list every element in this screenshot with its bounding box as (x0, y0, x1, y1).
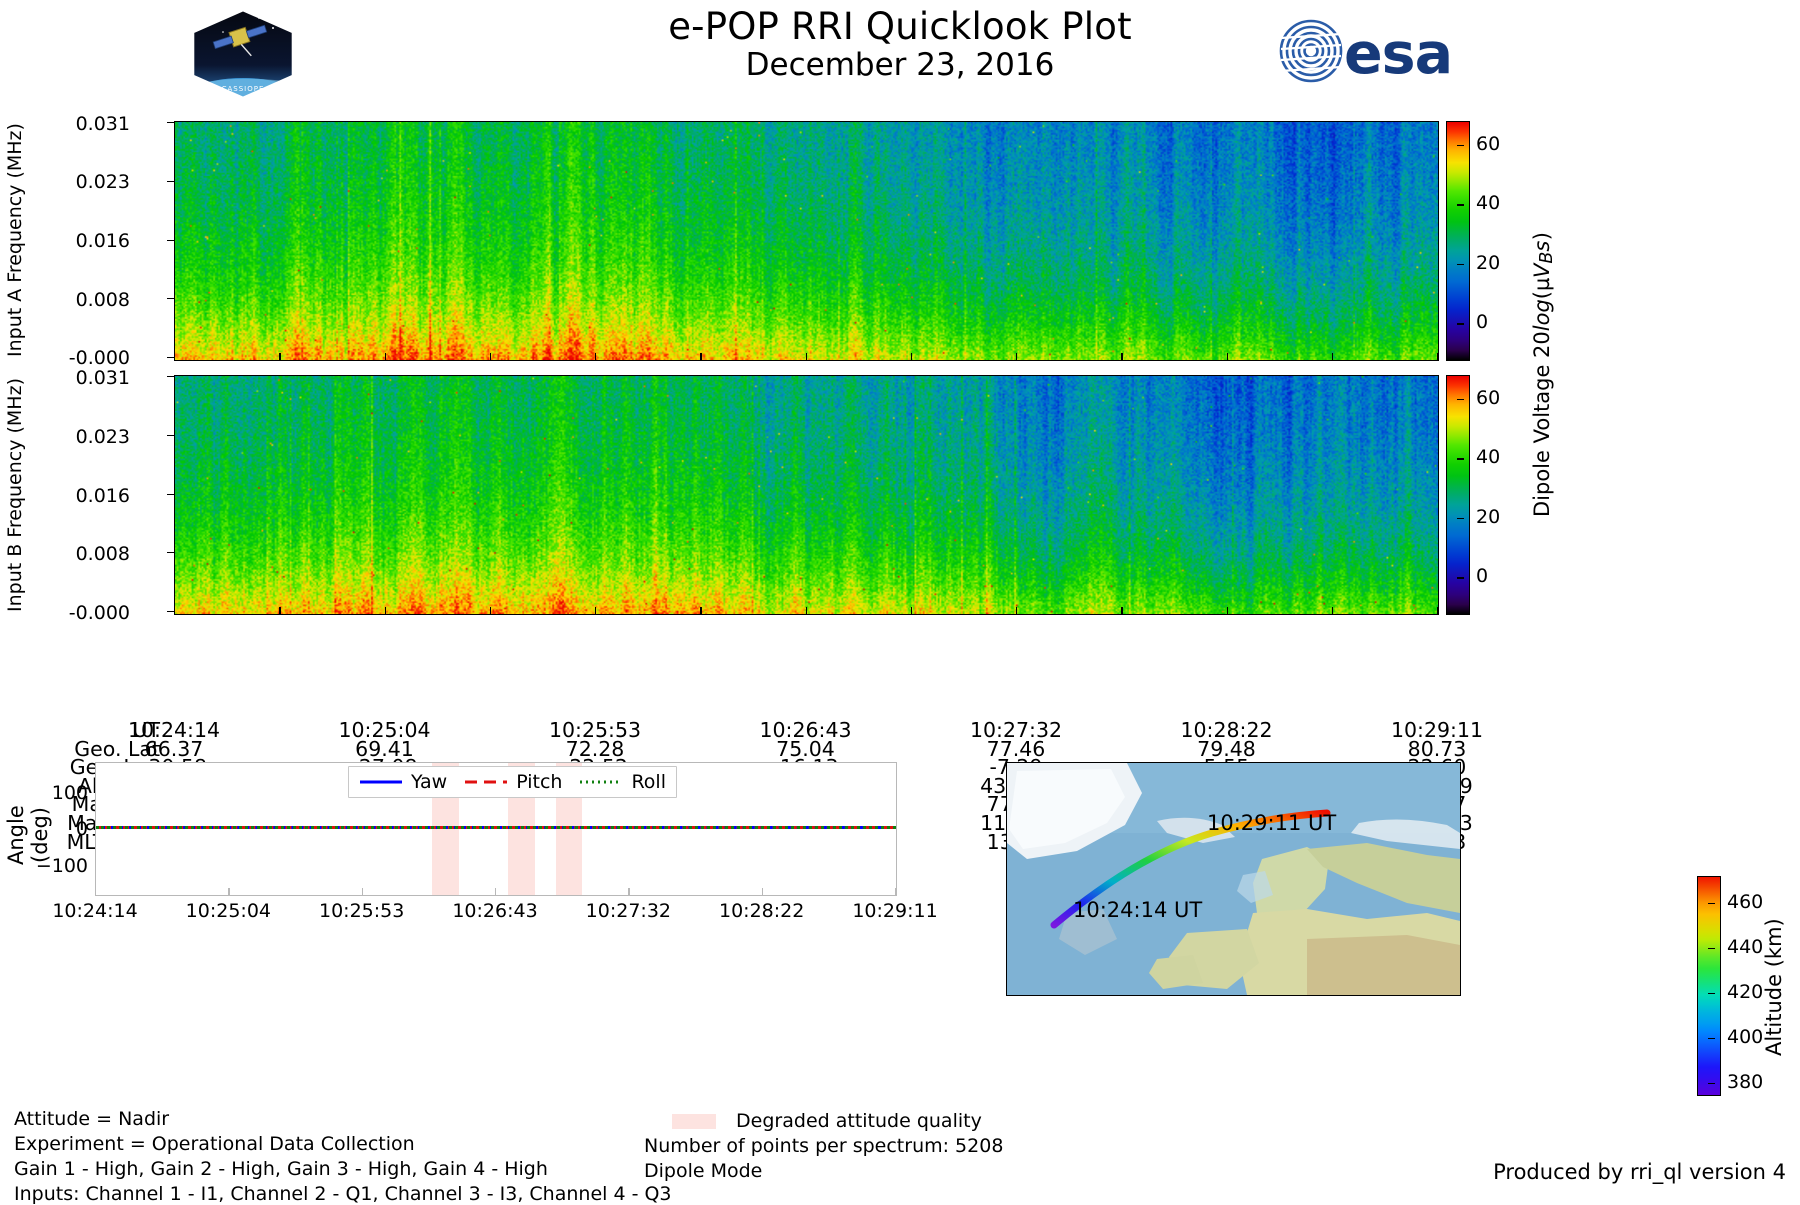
attitude-ytick-0: 0 (10, 818, 88, 840)
ephemeris-row: UT10:24:1410:25:0410:25:5310:26:4310:27:… (0, 718, 1660, 737)
ytick-b-4: 0.031 (10, 367, 130, 389)
altitude-tick-380: 380 (1727, 1071, 1763, 1093)
dipole-b-tickmark (1457, 518, 1464, 519)
dipole-colorbar-label: Dipole Voltage 20log(µVBs) (1530, 215, 1560, 535)
spectrogram-xtickmark (279, 607, 280, 614)
dipole-b-tick-20: 20 (1476, 506, 1500, 528)
ytick-b-3: 0.023 (10, 426, 130, 448)
legend-label-pitch: Pitch (516, 771, 562, 793)
svg-text:esa: esa (1344, 21, 1452, 84)
dipole-colorbar-b (1446, 375, 1470, 615)
altitude-tickmark (1708, 903, 1715, 904)
esa-logo-icon: esa (1278, 18, 1478, 84)
annotation-gains: Gain 1 - High, Gain 2 - High, Gain 3 - H… (14, 1158, 548, 1180)
attitude-xtick: 10:26:43 (430, 900, 560, 922)
ytick-a-4: 0.031 (10, 113, 130, 135)
map-start-label: 10:24:14 UT (1073, 898, 1202, 922)
roll-line (96, 826, 896, 829)
annotation-attitude: Attitude = Nadir (14, 1108, 169, 1130)
dipole-b-tick-40: 40 (1476, 446, 1500, 468)
dipole-colorbar-label-text: Dipole Voltage 20log(µVBs) (1530, 233, 1554, 518)
ephemeris-row: Geo. Lat66.3769.4172.2875.0477.4679.4880… (0, 737, 1660, 756)
ytick-a-0: -0.000 (10, 347, 130, 369)
altitude-tick-440: 440 (1727, 936, 1763, 958)
degraded-swatch-icon (672, 1114, 716, 1129)
ytick-b-1: 0.008 (10, 543, 130, 565)
dipole-a-tick-40: 40 (1476, 192, 1500, 214)
annotation-inputs: Inputs: Channel 1 - I1, Channel 2 - Q1, … (14, 1183, 672, 1205)
altitude-tick-400: 400 (1727, 1026, 1763, 1048)
roll-swatch-icon (579, 776, 623, 788)
spectrogram-xtickmark (1332, 353, 1333, 360)
spectrogram-canvas (175, 122, 1438, 360)
attitude-xtickmark (495, 888, 496, 895)
map-graphic (1007, 763, 1460, 995)
degraded-legend-entry: Degraded attitude quality (672, 1110, 982, 1132)
attitude-xtick: 10:25:53 (297, 900, 427, 922)
spectrogram-input-a[interactable] (174, 121, 1439, 361)
spectrogram-xtickmark (174, 353, 175, 360)
altitude-tick-420: 420 (1727, 981, 1763, 1003)
spectrogram-xtickmark (385, 353, 386, 360)
legend-label-roll: Roll (631, 771, 666, 793)
spectrogram-xtickmark (1332, 607, 1333, 614)
attitude-ytick-neg100: −100 (2, 855, 88, 877)
dipole-a-tickmark (1457, 204, 1464, 205)
spectrogram-xtickmark (1437, 607, 1438, 614)
attitude-xtick: 10:24:14 (30, 900, 160, 922)
attitude-xtick: 10:25:04 (163, 900, 293, 922)
attitude-xtickmark (95, 888, 96, 895)
dipole-b-tickmark (1457, 577, 1464, 578)
spectrogram-xtickmark (385, 607, 386, 614)
map-end-label: 10:29:11 UT (1207, 811, 1336, 835)
spectrogram-xtickmark (174, 607, 175, 614)
pitch-swatch-icon (464, 776, 508, 788)
attitude-xtickmark (228, 888, 229, 895)
dipole-colorbar-a (1446, 121, 1470, 361)
ytick-a-2: 0.016 (10, 230, 130, 252)
yaw-swatch-icon (359, 776, 403, 788)
dipole-a-tick-60: 60 (1476, 133, 1500, 155)
cassiope-logo-icon: CASSIOPE (189, 8, 297, 100)
dipole-b-tickmark (1457, 399, 1464, 400)
spectrogram-xtickmark (490, 607, 491, 614)
spectrogram-input-b[interactable] (174, 375, 1439, 615)
ytick-a-1: 0.008 (10, 289, 130, 311)
legend-item-yaw: Yaw (359, 771, 447, 793)
altitude-tickmark (1708, 948, 1715, 949)
legend-item-roll: Roll (579, 771, 666, 793)
spectrogram-xtickmark (700, 607, 701, 614)
dipole-a-tickmark (1457, 323, 1464, 324)
dipole-b-tick-0: 0 (1476, 565, 1488, 587)
spectrogram-xtickmark (700, 353, 701, 360)
ytick-a-3: 0.023 (10, 171, 130, 193)
altitude-tick-460: 460 (1727, 891, 1763, 913)
altitude-colorbar-label: Altitude (km) (1762, 900, 1792, 1075)
dipole-b-tickmark (1457, 458, 1464, 459)
altitude-tickmark (1708, 993, 1715, 994)
spectrogram-xtickmark (1121, 353, 1122, 360)
attitude-xtickmark (628, 888, 629, 895)
legend-item-pitch: Pitch (464, 771, 562, 793)
attitude-xtick: 10:29:11 (830, 900, 960, 922)
spectrogram-xtickmark (1437, 353, 1438, 360)
ytick-b-2: 0.016 (10, 485, 130, 507)
attitude-ytick-100: 100 (10, 782, 88, 804)
altitude-tickmark (1708, 1038, 1715, 1039)
dipole-a-tick-20: 20 (1476, 252, 1500, 274)
spectrogram-xtickmark (1227, 607, 1228, 614)
annotation-dipole-mode: Dipole Mode (644, 1160, 762, 1182)
dipole-a-tick-0: 0 (1476, 311, 1488, 333)
attitude-legend: Yaw Pitch Roll (348, 766, 677, 798)
spectrogram-xtickmark (1227, 353, 1228, 360)
spectrogram-xtickmark (806, 353, 807, 360)
legend-label-yaw: Yaw (411, 771, 447, 793)
ytick-b-0: -0.000 (10, 602, 130, 624)
spectrogram-xtickmark (1016, 607, 1017, 614)
attitude-xtick: 10:28:22 (697, 900, 827, 922)
attitude-xtickmark (895, 888, 896, 895)
spectrogram-xtickmark (1016, 353, 1017, 360)
degraded-legend-label: Degraded attitude quality (736, 1110, 982, 1132)
dipole-a-tickmark (1457, 264, 1464, 265)
attitude-xtick: 10:27:32 (563, 900, 693, 922)
altitude-colorbar (1697, 876, 1721, 1096)
dipole-b-tick-60: 60 (1476, 387, 1500, 409)
attitude-xtickmark (762, 888, 763, 895)
spectrogram-xtickmark (279, 353, 280, 360)
attitude-xtickmark (362, 888, 363, 895)
spectrogram-canvas (175, 376, 1438, 614)
annotation-experiment: Experiment = Operational Data Collection (14, 1133, 415, 1155)
spectrogram-xtickmark (806, 607, 807, 614)
spectrogram-xtickmark (1121, 607, 1122, 614)
spectrogram-xtickmark (595, 607, 596, 614)
altitude-tickmark (1708, 1083, 1715, 1084)
ground-track-map[interactable]: 10:24:14 UT 10:29:11 UT (1006, 762, 1461, 996)
annotation-points-per-spectrum: Number of points per spectrum: 5208 (644, 1135, 1003, 1157)
spectrogram-xtickmark (595, 353, 596, 360)
spectrogram-xtickmark (911, 607, 912, 614)
spectrogram-xtickmark (911, 353, 912, 360)
spectrogram-xtickmark (490, 353, 491, 360)
dipole-a-tickmark (1457, 145, 1464, 146)
produced-by-footer: Produced by rri_ql version 4 (1493, 1160, 1786, 1184)
